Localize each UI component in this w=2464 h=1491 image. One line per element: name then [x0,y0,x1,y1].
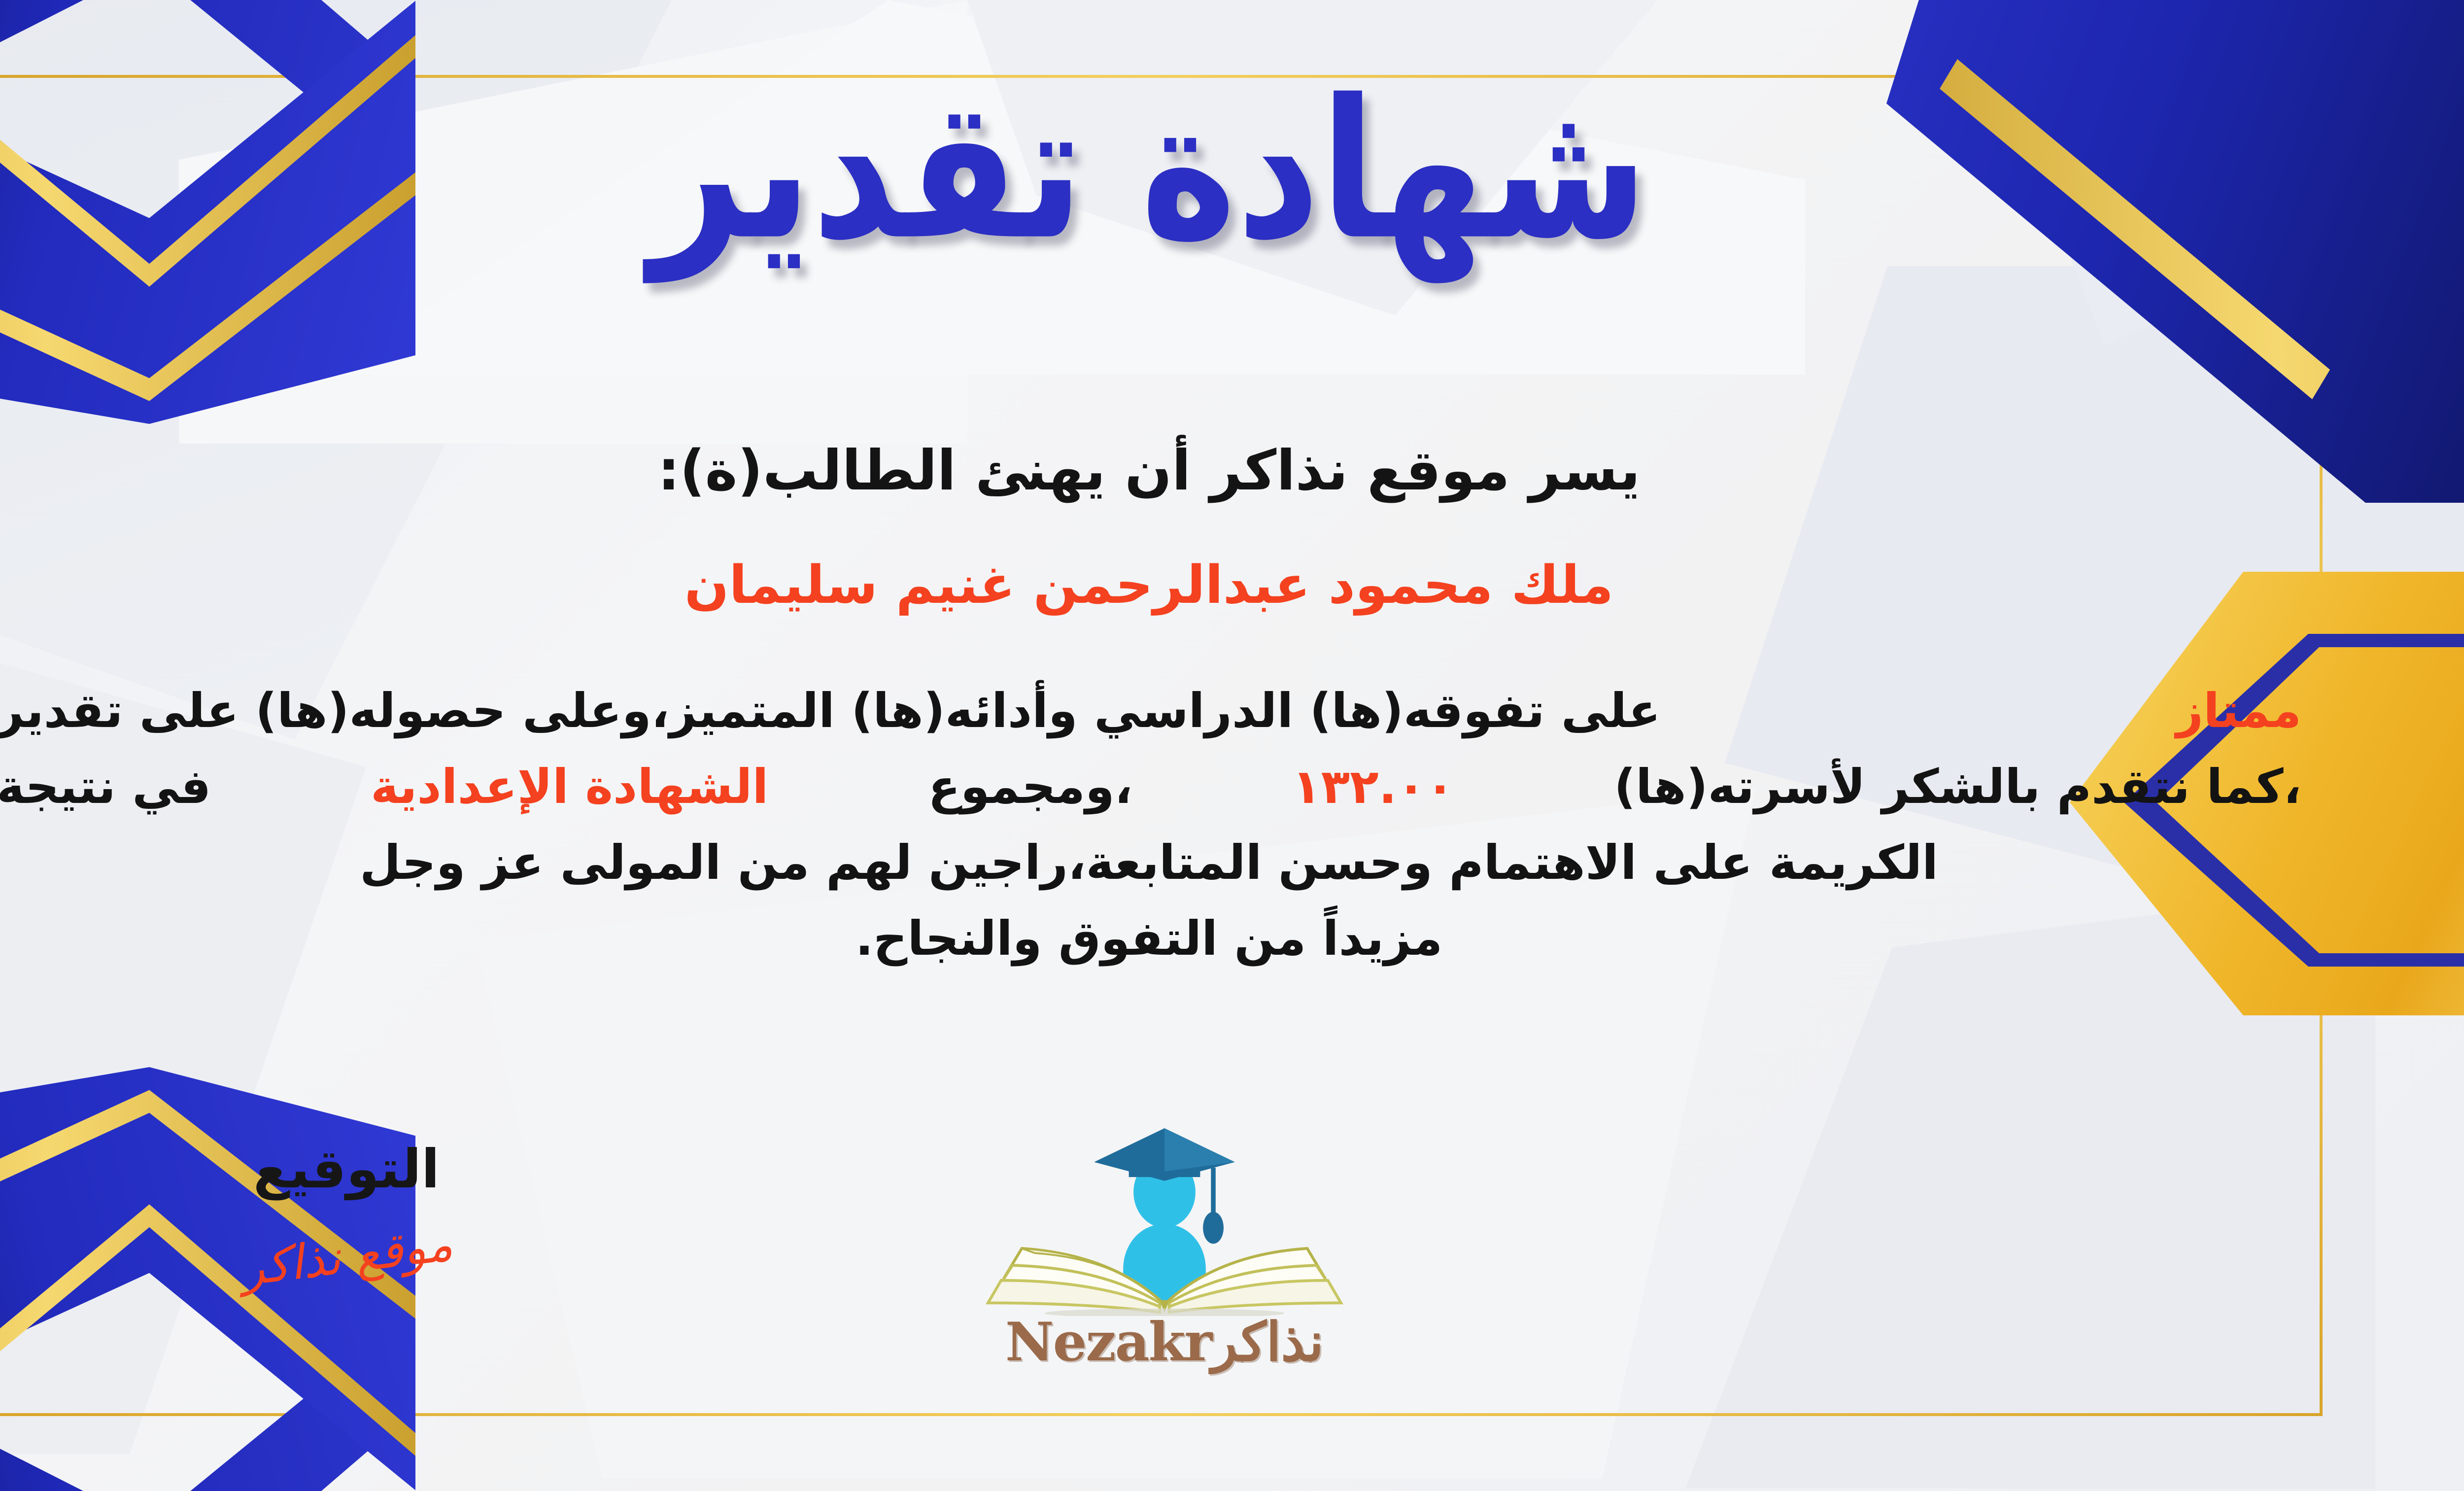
signature-label: التوقيع [208,1139,484,1200]
total-score-value: ١٣٢.٠٠ [1292,751,1454,823]
site-logo: Nezakrنذاكر [962,1119,1367,1373]
logo-wordmark: Nezakrنذاكر [962,1311,1367,1373]
body-line-2-mid: ،ومجموع [928,751,1132,823]
body-line-1: ممتاز على تفوقه(ها) الدراسي وأدائه(ها) ا… [0,675,2301,747]
body-line-4: مزيداً من التفوق والنجاح. [0,903,2301,975]
certificate-title-wrap: شهادة تقدير [0,89,2464,251]
certificate-body: ممتاز على تفوقه(ها) الدراسي وأدائه(ها) ا… [0,675,2301,979]
body-line-1-text: على تفوقه(ها) الدراسي وأدائه(ها) المتميز… [0,675,1661,747]
student-name: ملك محمود عبدالرحمن غنيم سليمان [0,555,2464,615]
grade-value: ممتاز [2176,675,2301,747]
body-line-3: الكريمة على الاهتمام وحسن المتابعة،راجين… [0,827,2301,899]
certificate-title: شهادة تقدير [650,74,1648,266]
signature-block: التوقيع موقع نذاكر [208,1139,484,1284]
graduate-book-logo-icon [962,1119,1367,1316]
body-line-2-tail: ،كما نتقدم بالشكر لأسرته(ها) [1614,751,2301,823]
exam-name: الشهادة الإعدادية [371,751,768,823]
body-line-2-head: في نتيجة [0,751,211,823]
certificate-canvas: شهادة تقدير يسر موقع نذاكر أن يهنئ الطال… [0,0,2464,1491]
signature-mark: موقع نذاكر [238,1216,455,1297]
body-line-2: ،كما نتقدم بالشكر لأسرته(ها) ١٣٢.٠٠ ،ومج… [0,751,2301,823]
intro-line: يسر موقع نذاكر أن يهنئ الطالب(ة): [0,439,2464,503]
